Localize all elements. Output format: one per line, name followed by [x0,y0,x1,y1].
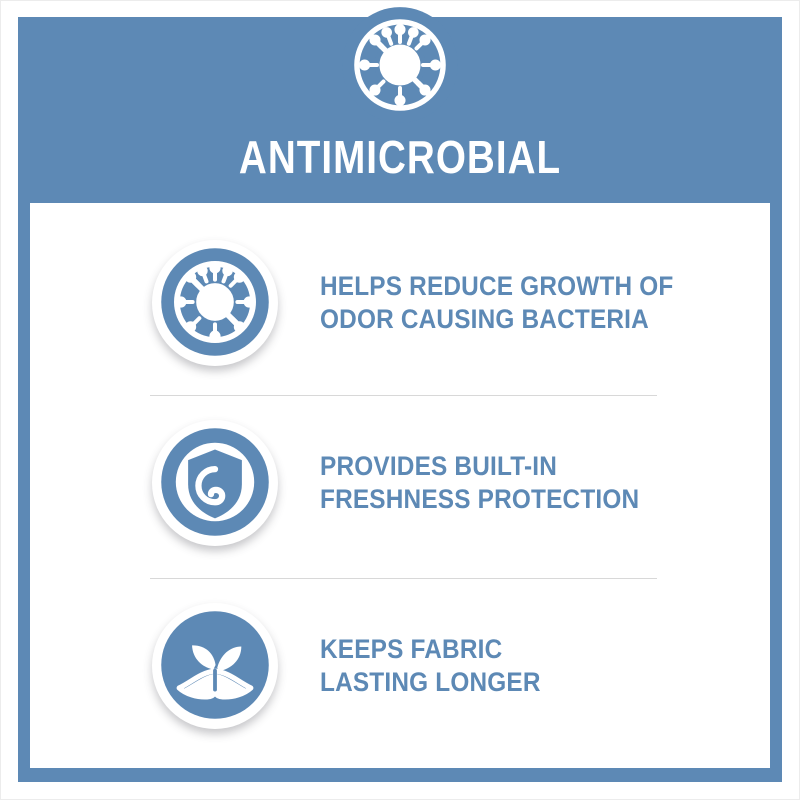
sprout-leaf-icon [159,609,271,721]
feature-list: HELPS REDUCE GROWTH OF ODOR CAUSING BACT… [30,203,770,768]
content-card: HELPS REDUCE GROWTH OF ODOR CAUSING BACT… [30,203,770,768]
page-title: ANTIMICROBIAL [79,134,721,180]
feature-label: KEEPS FABRIC LASTING LONGER [320,633,541,700]
divider-2 [150,578,657,579]
shield-freshness-icon [159,426,271,538]
header: ANTIMICROBIAL [18,17,782,203]
feature-label: PROVIDES BUILT-IN FRESHNESS PROTECTION [320,450,639,517]
antimicrobial-infographic: HELPS REDUCE GROWTH OF ODOR CAUSING BACT… [0,0,800,800]
feature-row: HELPS REDUCE GROWTH OF ODOR CAUSING BACT… [30,228,770,378]
no-germ-icon [159,246,271,358]
feature-icon-wrapper [152,420,278,546]
divider-1 [150,395,657,396]
feature-label: HELPS REDUCE GROWTH OF ODOR CAUSING BACT… [320,270,674,337]
feature-row: PROVIDES BUILT-IN FRESHNESS PROTECTION [30,408,770,558]
feature-row: KEEPS FABRIC LASTING LONGER [30,591,770,741]
feature-icon-wrapper [152,603,278,729]
feature-icon-wrapper [152,240,278,366]
no-germ-icon [341,6,459,124]
